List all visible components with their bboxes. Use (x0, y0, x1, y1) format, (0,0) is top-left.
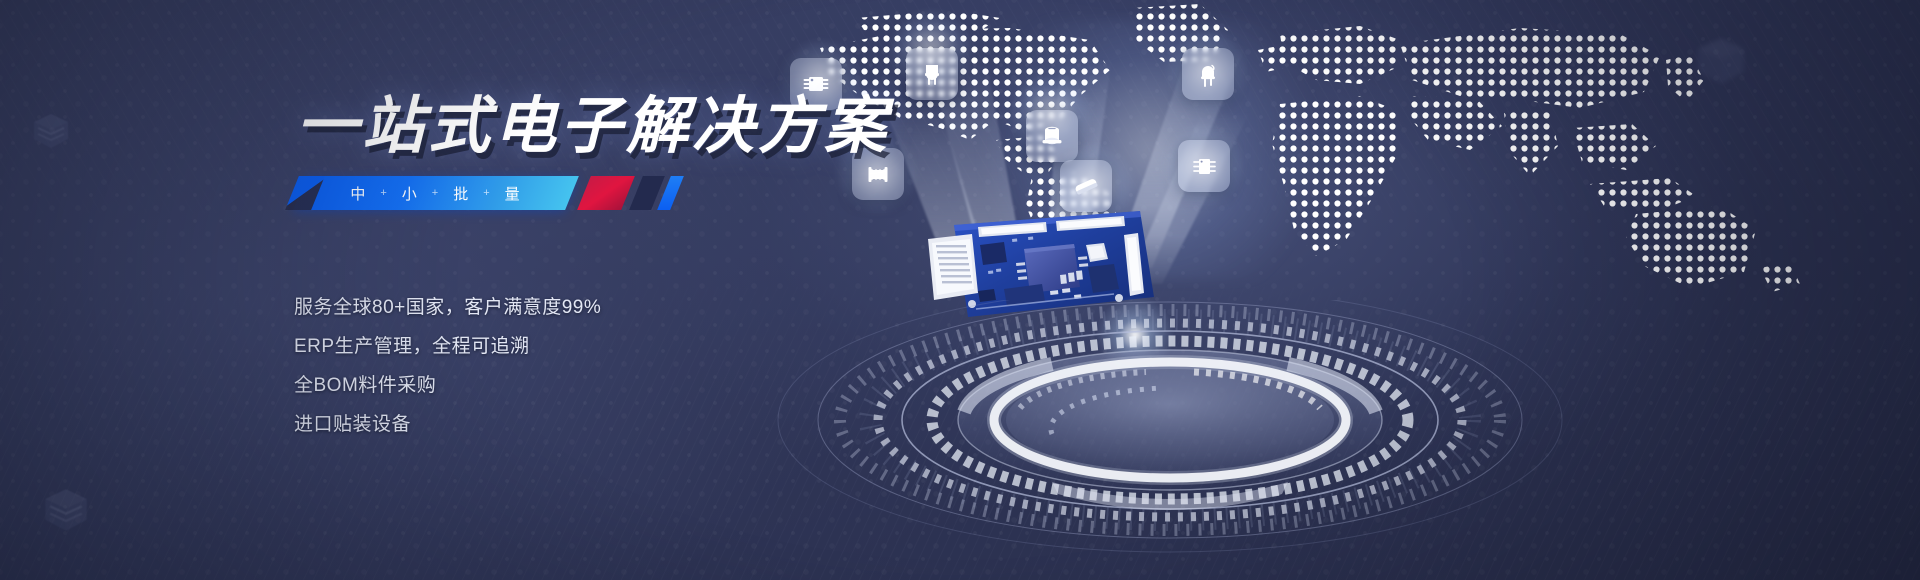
vignette-overlay (0, 0, 1920, 580)
hero-banner: 一站式电子解决方案 中 + 小 + 批 + 量 服务全球80+国家，客户满意度9… (0, 0, 1920, 580)
